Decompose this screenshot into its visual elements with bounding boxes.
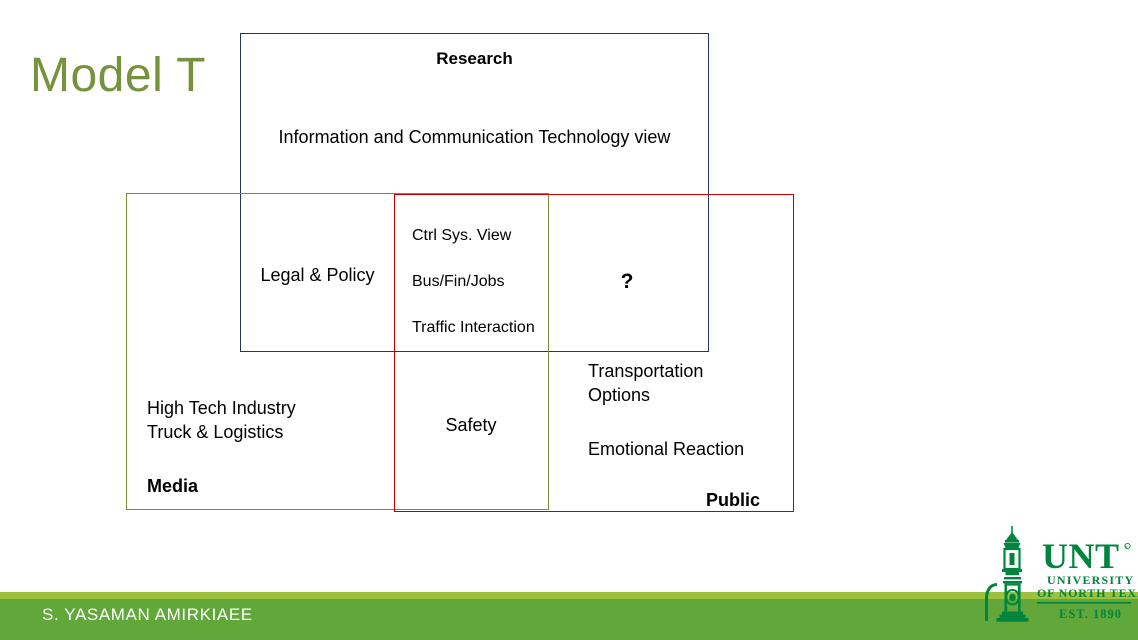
label-ict-view: Information and Communication Technology…: [258, 126, 691, 150]
slide-canvas: Model T Research Information and Communi…: [0, 0, 1138, 640]
svg-text:UNT: UNT: [1042, 536, 1120, 576]
label-question-mark: ?: [576, 268, 678, 296]
label-high-tech-industry: High Tech Industry Truck & Logistics: [147, 397, 296, 445]
label-legal-policy: Legal & Policy: [240, 264, 395, 288]
diagram-labels: Research Information and Communication T…: [0, 0, 1138, 585]
label-safety: Safety: [398, 414, 544, 438]
label-media: Media: [147, 475, 198, 499]
unt-logo: UNT R UNIVERSITY OF NORTH TEXAS EST. 189…: [975, 520, 1138, 640]
svg-text:EST. 1890: EST. 1890: [1059, 607, 1122, 621]
footer-accent-strip: [0, 592, 1138, 599]
label-traffic-interaction: Traffic Interaction: [412, 317, 535, 338]
slide-footer: S. YASAMAN AMIRKIAEE: [0, 592, 1138, 640]
label-public: Public: [600, 489, 760, 513]
svg-text:OF NORTH TEXAS: OF NORTH TEXAS: [1037, 586, 1138, 600]
label-emotional-reaction: Emotional Reaction: [588, 438, 744, 462]
svg-text:UNIVERSITY: UNIVERSITY: [1047, 573, 1134, 587]
label-research-title: Research: [240, 48, 709, 70]
label-transportation-options: Transportation Options: [588, 360, 768, 408]
label-ctrl-sys-view: Ctrl Sys. View: [412, 225, 511, 246]
label-bus-fin-jobs: Bus/Fin/Jobs: [412, 271, 504, 292]
footer-author-name: S. YASAMAN AMIRKIAEE: [42, 605, 253, 625]
